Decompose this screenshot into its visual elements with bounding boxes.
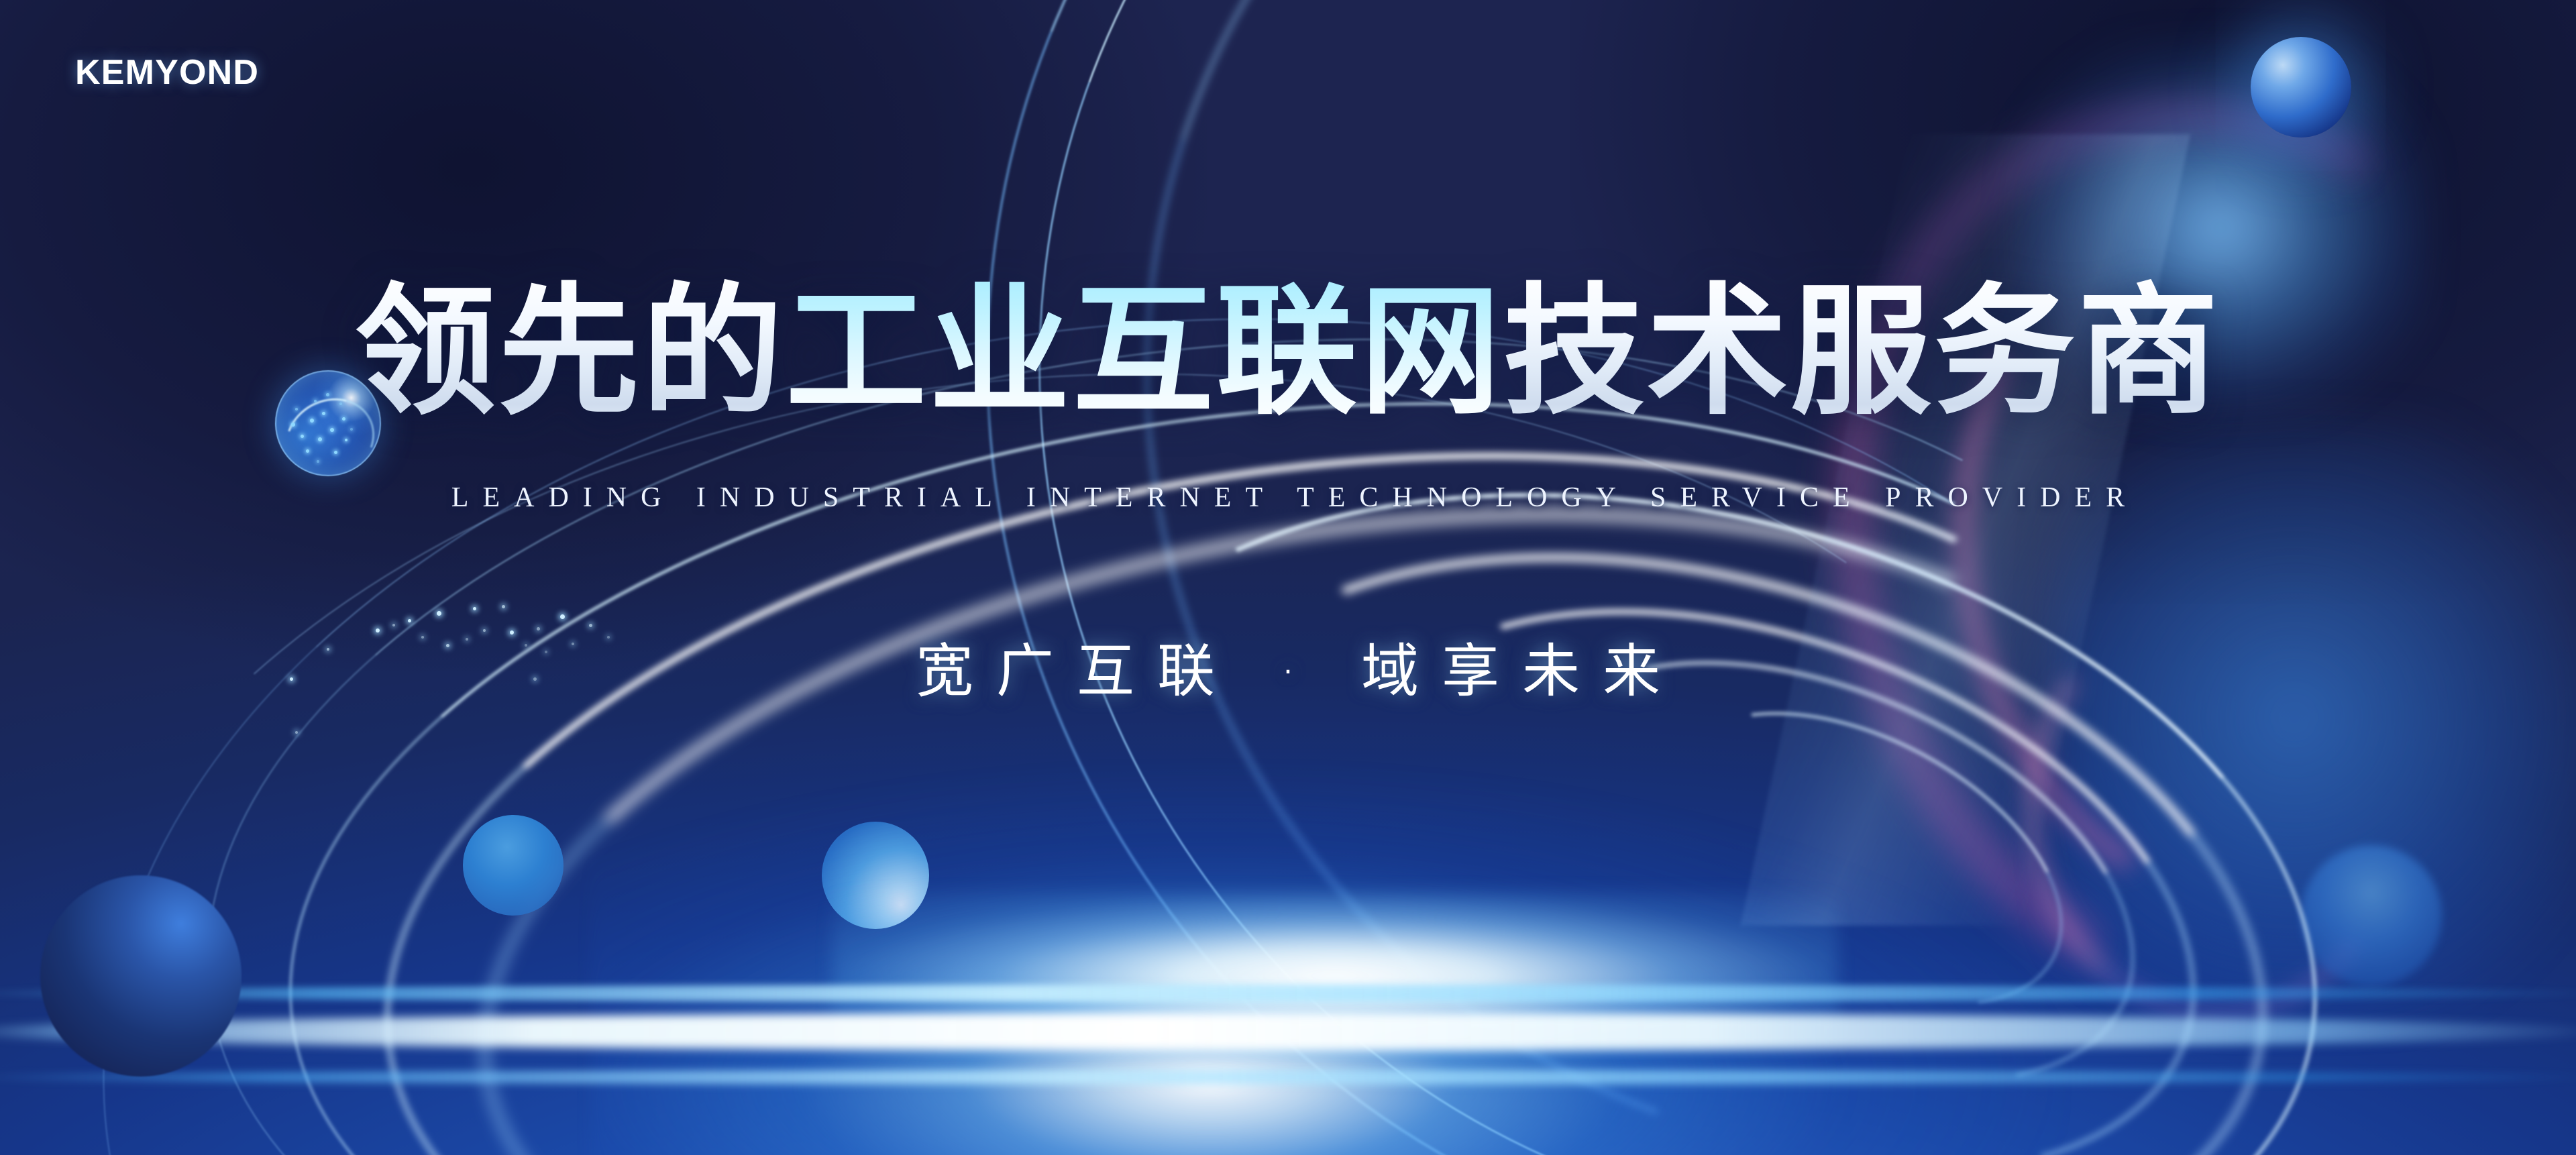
page-title: 领先的工业互联网技术服务商 [0, 282, 2576, 423]
promo-banner: KEMYOND 领先的工业互联网技术服务商 LEADING INDUSTRIAL… [0, 0, 2576, 1155]
headline-segment-tail: 技术服务商 [1503, 270, 2221, 434]
headline-segment-highlight: 工业互联网 [786, 270, 1503, 434]
headline-subtitle: LEADING INDUSTRIAL INTERNET TECHNOLOGY S… [0, 482, 2576, 514]
headline-segment-lead: 领先的 [355, 270, 786, 434]
brand-slogan: 宽广互联 · 域享未来 [0, 624, 2576, 708]
brand-logo: KEMYOND [75, 52, 259, 93]
banner-content: KEMYOND 领先的工业互联网技术服务商 LEADING INDUSTRIAL… [0, 0, 2576, 1155]
